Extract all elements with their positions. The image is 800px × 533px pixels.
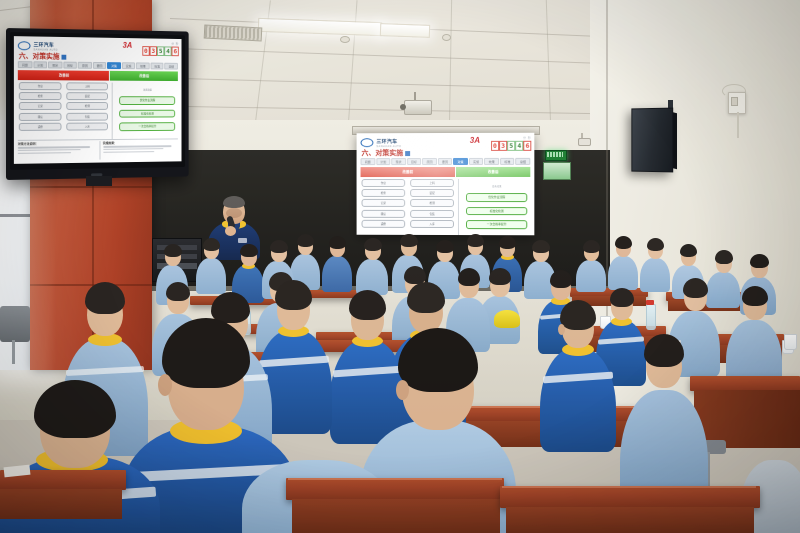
person-hair bbox=[297, 234, 314, 247]
flow-node: 返修 bbox=[19, 122, 61, 130]
training-room-photo: 三环汽车 SANHUAN AUTO 3A 分 秒 0 3 5 4 6 六、对策实… bbox=[0, 0, 800, 533]
slide-tab: 总结 bbox=[165, 63, 178, 70]
desk-front-panel bbox=[506, 507, 754, 533]
slide-badge: 3A bbox=[123, 41, 132, 50]
desk-front-panel bbox=[292, 499, 500, 533]
slide-tab: 效果 bbox=[136, 62, 149, 69]
person-hair bbox=[85, 282, 125, 314]
flow-node: 上料 bbox=[411, 179, 454, 187]
slide-clock-label: 分 秒 bbox=[523, 136, 531, 140]
chair-leg bbox=[12, 340, 15, 364]
slide-badge: 3A bbox=[470, 136, 480, 145]
person-hair bbox=[329, 236, 346, 249]
presenter-hair bbox=[223, 196, 245, 208]
slide-before-column: 作业 检查 记录 确认 返修 上料 装配 检测 包装 入库 bbox=[18, 82, 113, 140]
slide-body: 作业 检查 记录 确认 返修 上料 装配 检测 包装 入库 bbox=[18, 82, 178, 140]
slide-tab: 计划 bbox=[33, 61, 47, 68]
desk-front-panel bbox=[0, 489, 122, 519]
clock-digit: 4 bbox=[165, 46, 172, 56]
bottle-cap bbox=[646, 300, 654, 305]
slide-logo-text: 三环汽车 bbox=[33, 41, 57, 48]
ceiling-air-vent bbox=[204, 24, 263, 41]
slide-bar-before: 改善前 bbox=[361, 167, 456, 177]
tv-wall-mount bbox=[86, 176, 112, 186]
person-hair bbox=[203, 238, 220, 251]
person-ear bbox=[558, 324, 565, 335]
footer-text-line bbox=[18, 152, 72, 154]
slide-title-marker-icon bbox=[405, 151, 410, 156]
person-ear bbox=[396, 380, 409, 400]
slide-footer-left: 对策方法说明： bbox=[18, 141, 96, 161]
footer-text-line bbox=[18, 146, 90, 148]
ceiling-projector bbox=[404, 100, 432, 115]
flow-node: 装配 bbox=[411, 189, 454, 197]
tv-screen: 三环汽车 SANHUAN AUTO 3A 分 秒 0 3 5 4 6 六、对策实… bbox=[14, 36, 182, 164]
person-hair bbox=[647, 238, 664, 251]
slide-tab: 标准 bbox=[500, 158, 515, 165]
person-hair bbox=[398, 328, 478, 392]
flow-node: 返修 bbox=[362, 220, 405, 228]
slide-title: 六、对策实施 bbox=[362, 148, 411, 158]
slide-flow-mid: 上料 装配 检测 包装 入库 bbox=[65, 82, 109, 139]
person-hair bbox=[275, 280, 312, 310]
footer-text-line bbox=[103, 148, 163, 150]
slide-tab: 原因 bbox=[78, 62, 92, 69]
slide-tab-row: 问题 计划 现状 目标 原因 要因 对策 实施 效果 标准 总结 bbox=[361, 158, 531, 165]
clock-digit: 0 bbox=[491, 140, 499, 150]
flow-node: 检测 bbox=[411, 199, 454, 207]
person-hair bbox=[162, 318, 250, 388]
slide-tab: 标准 bbox=[151, 63, 164, 70]
desk-edge-highlight bbox=[288, 478, 502, 480]
person-hair bbox=[499, 236, 516, 249]
slide-tab: 现状 bbox=[391, 158, 405, 165]
audience-person bbox=[726, 286, 782, 386]
flow-node: 作业 bbox=[19, 82, 61, 90]
slide-tab: 目标 bbox=[63, 62, 77, 69]
slide-tab: 效果 bbox=[484, 158, 499, 165]
flow-node-after: 标准化检测 bbox=[119, 109, 175, 117]
slide-title-marker-icon bbox=[62, 54, 67, 59]
clock-digit: 5 bbox=[157, 46, 164, 56]
person-torso bbox=[540, 348, 616, 452]
audience-person bbox=[608, 236, 638, 288]
slide-body: 作业 检查 记录 确认 返修 上料 装配 检测 包装 入库 改 bbox=[361, 179, 531, 235]
projector-lens-icon bbox=[400, 104, 406, 110]
slide-bar-before: 改善前 bbox=[18, 70, 109, 81]
presentation-slide-projected: 三环汽车 SANHUAN AUTO 3A 分 秒 0 3 5 4 6 六、对策实… bbox=[357, 133, 535, 236]
safety-helmet-icon bbox=[494, 310, 520, 328]
flow-node-after: 优化作业流程 bbox=[119, 96, 175, 104]
ceiling-light-fixture bbox=[380, 23, 430, 38]
audience-person bbox=[640, 238, 670, 290]
slide-after-column: 改善效果 优化作业流程 标准化检测 一次合格率提升 bbox=[459, 179, 530, 235]
audience-person bbox=[356, 238, 388, 292]
person-hair bbox=[364, 238, 382, 251]
slide-comparison-bars: 改善前 改善后 bbox=[361, 167, 531, 177]
flow-node: 检查 bbox=[362, 189, 405, 197]
person-hair bbox=[34, 380, 116, 438]
slide-tab: 目标 bbox=[407, 158, 421, 165]
logo-mark-icon bbox=[361, 138, 374, 147]
slide-right-caption: 改善效果 bbox=[143, 88, 152, 92]
flow-node: 确认 bbox=[19, 112, 61, 120]
flow-node: 装配 bbox=[67, 92, 108, 100]
clock-digit: 6 bbox=[172, 46, 179, 56]
person-hair bbox=[240, 244, 258, 257]
flow-node-after: 优化作业流程 bbox=[466, 193, 527, 202]
presenter-hand bbox=[225, 226, 236, 236]
slide-before-column: 作业 检查 记录 确认 返修 上料 装配 检测 包装 入库 bbox=[361, 179, 460, 235]
slide-tab-row: 问题 计划 现状 目标 原因 要因 对策 实施 效果 标准 总结 bbox=[18, 61, 178, 69]
flow-node: 确认 bbox=[362, 209, 405, 217]
person-hair bbox=[349, 290, 386, 320]
slide-footer-right: 实施效果： bbox=[99, 140, 178, 159]
water-bottle bbox=[646, 304, 656, 330]
person-hair bbox=[164, 244, 182, 257]
slide-tab: 总结 bbox=[516, 158, 531, 165]
slide-title-text: 六、对策实施 bbox=[19, 53, 60, 60]
person-hair bbox=[400, 234, 418, 247]
slide-tab: 问题 bbox=[361, 158, 375, 165]
person-ear bbox=[158, 374, 172, 396]
flow-node: 记录 bbox=[19, 102, 61, 110]
flow-node: 入库 bbox=[411, 220, 454, 228]
clock-digit: 3 bbox=[150, 46, 157, 56]
wall-panel-cord bbox=[737, 112, 739, 138]
flow-node: 包装 bbox=[411, 210, 454, 218]
desk-foreground bbox=[286, 478, 504, 500]
exit-sign-secondary bbox=[543, 162, 571, 180]
slide-tab-active: 对策 bbox=[453, 158, 468, 165]
slide-flow-mid: 上料 装配 检测 包装 入库 bbox=[409, 179, 455, 235]
flow-node-after: 一次合格率提升 bbox=[466, 220, 527, 229]
slide-bar-after: 改善后 bbox=[110, 71, 178, 81]
person-hair bbox=[436, 240, 454, 253]
slide-right-caption: 改善效果 bbox=[492, 184, 502, 188]
person-hair bbox=[407, 282, 445, 313]
slide-clock: 分 秒 0 3 5 4 6 bbox=[142, 41, 178, 55]
person-torso bbox=[640, 258, 670, 292]
wall-panel-button[interactable] bbox=[731, 97, 738, 106]
clock-digit: 0 bbox=[142, 46, 149, 56]
slide-comparison-bars: 改善前 改善后 bbox=[18, 70, 178, 81]
person-hair bbox=[550, 270, 572, 288]
slide-tab: 现状 bbox=[48, 61, 62, 68]
flow-node: 包装 bbox=[67, 112, 108, 120]
clock-digit: 6 bbox=[524, 140, 532, 150]
clock-digit: 5 bbox=[507, 140, 515, 150]
flow-node: 检测 bbox=[67, 102, 108, 110]
slide-flow-left: 作业 检查 记录 确认 返修 bbox=[361, 179, 407, 235]
flow-node: 入库 bbox=[67, 122, 108, 130]
flow-node: 上料 bbox=[67, 82, 108, 90]
slide-bar-after: 改善后 bbox=[456, 167, 530, 177]
person-hair bbox=[489, 268, 511, 285]
slide-footer: 对策方法说明： 实施效果： bbox=[18, 138, 178, 161]
person-hair bbox=[683, 278, 708, 298]
clock-digit: 4 bbox=[516, 140, 524, 150]
footer-text-line bbox=[18, 149, 81, 151]
slide-flow-left: 作业 检查 记录 确认 返修 bbox=[18, 82, 63, 140]
audience-person bbox=[620, 334, 708, 510]
slide-title: 六、对策实施 bbox=[19, 51, 66, 61]
wall-speaker bbox=[631, 108, 673, 173]
person-hair bbox=[715, 250, 733, 264]
flow-node: 检查 bbox=[19, 92, 61, 100]
footer-text-line bbox=[103, 145, 172, 147]
flow-node: 作业 bbox=[362, 179, 405, 187]
flow-node-after: 标准化检测 bbox=[466, 207, 527, 216]
paper-cup bbox=[784, 334, 797, 350]
slide-logo-text: 三环汽车 bbox=[376, 138, 401, 145]
person-hair bbox=[270, 240, 288, 253]
slide-tab: 问题 bbox=[18, 61, 32, 68]
person-hair bbox=[532, 240, 550, 253]
wall-mounted-tv[interactable]: 三环汽车 SANHUAN AUTO 3A 分 秒 0 3 5 4 6 六、对策实… bbox=[6, 28, 189, 180]
person-hair bbox=[166, 282, 190, 301]
slide-tab: 实施 bbox=[469, 158, 484, 165]
flow-node: 记录 bbox=[362, 199, 405, 207]
desk-foreground bbox=[500, 486, 760, 508]
chair bbox=[0, 306, 30, 342]
slide-after-column: 改善效果 优化作业流程 标准化检测 一次合格率提升 bbox=[113, 83, 178, 139]
slide-clock: 分 秒 0 3 5 4 6 bbox=[491, 136, 531, 151]
person-hair bbox=[680, 244, 697, 257]
flow-node-after: 一次合格率提升 bbox=[119, 122, 175, 131]
slide-tab-active: 对策 bbox=[107, 62, 121, 69]
person-hair bbox=[615, 236, 632, 249]
security-camera-icon bbox=[578, 138, 591, 146]
audience-person bbox=[540, 300, 616, 450]
person-hair bbox=[583, 240, 600, 253]
presentation-slide-tv: 三环汽车 SANHUAN AUTO 3A 分 秒 0 3 5 4 6 六、对策实… bbox=[14, 36, 182, 164]
projection-screen: 三环汽车 SANHUAN AUTO 3A 分 秒 0 3 5 4 6 六、对策实… bbox=[357, 133, 535, 236]
slide-tab: 要因 bbox=[93, 62, 107, 69]
slide-tab: 原因 bbox=[422, 158, 437, 165]
exit-sign-text bbox=[547, 152, 563, 157]
slide-tab: 计划 bbox=[376, 158, 390, 165]
footer-text-line bbox=[103, 151, 154, 153]
person-hair bbox=[644, 334, 684, 367]
person-hair bbox=[750, 254, 769, 268]
person-hair bbox=[467, 234, 484, 247]
person-hair bbox=[742, 286, 768, 306]
person-torso bbox=[608, 256, 638, 290]
smoke-detector-icon bbox=[340, 36, 350, 43]
slide-title-text: 六、对策实施 bbox=[362, 150, 404, 157]
desk-edge-highlight bbox=[502, 486, 756, 488]
slide-tab: 实施 bbox=[122, 62, 135, 69]
person-hair bbox=[560, 300, 596, 330]
slide-tab: 要因 bbox=[438, 158, 453, 165]
smoke-detector-icon bbox=[442, 34, 451, 41]
presenter-logo-badge bbox=[238, 238, 247, 243]
clock-digit: 3 bbox=[499, 140, 507, 150]
logo-mark-icon bbox=[18, 41, 31, 50]
